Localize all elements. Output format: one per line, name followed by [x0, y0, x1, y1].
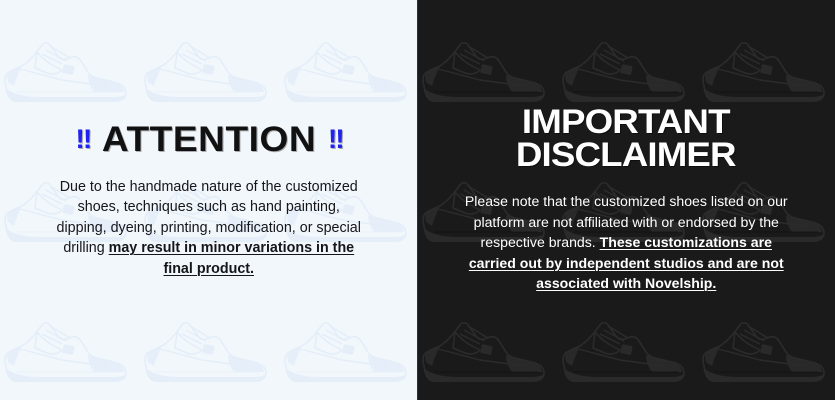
disclaimer-banner: !! ATTENTION !! Due to the handmade natu…: [0, 0, 835, 400]
attention-content: !! ATTENTION !! Due to the handmade natu…: [0, 0, 418, 400]
double-exclamation-right-icon: !!: [328, 120, 343, 158]
attention-heading: !! ATTENTION !!: [75, 121, 342, 159]
disclaimer-heading: IMPORTANT DISCLAIMER: [516, 106, 736, 172]
attention-heading-text: ATTENTION: [102, 121, 316, 159]
double-exclamation-left-icon: !!: [75, 120, 90, 158]
disclaimer-panel: IMPORTANT DISCLAIMER Please note that th…: [418, 0, 835, 400]
disclaimer-heading-line2: DISCLAIMER: [516, 139, 736, 172]
attention-body: Due to the handmade nature of the custom…: [54, 177, 364, 280]
disclaimer-heading-line1: IMPORTANT: [516, 106, 736, 139]
attention-panel: !! ATTENTION !! Due to the handmade natu…: [0, 0, 418, 400]
disclaimer-body: Please note that the customized shoes li…: [461, 191, 791, 293]
disclaimer-content: IMPORTANT DISCLAIMER Please note that th…: [418, 0, 835, 400]
panel-divider: [417, 0, 418, 400]
attention-body-emphasis: may result in minor variations in the fi…: [109, 240, 355, 277]
